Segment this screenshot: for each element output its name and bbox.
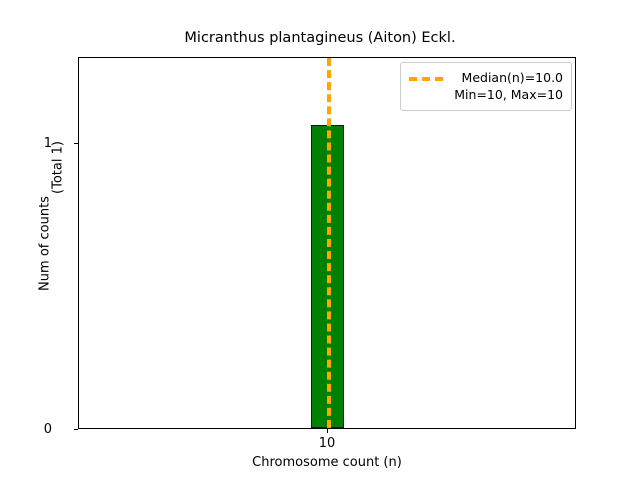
x-tick-label-10: 10 xyxy=(297,436,357,451)
legend-text-block: Median(n)=10.0 Min=10, Max=10 xyxy=(451,69,563,103)
plot-area xyxy=(78,57,576,429)
legend-minmax-label: Min=10, Max=10 xyxy=(451,86,563,103)
x-axis-label: Chromosome count (n) xyxy=(78,455,576,470)
x-tick-mark-10 xyxy=(327,429,328,433)
chart-figure: Micranthus plantagineus (Aiton) Eckl. 1 … xyxy=(0,0,640,480)
legend-median-label: Median(n)=10.0 xyxy=(451,69,563,86)
chart-title: Micranthus plantagineus (Aiton) Eckl. xyxy=(0,30,640,46)
y-tick-label-0: 0 xyxy=(12,423,52,436)
median-line xyxy=(327,58,331,428)
y-axis-label-total: (Total 1) xyxy=(51,68,66,268)
chart-legend: Median(n)=10.0 Min=10, Max=10 xyxy=(400,62,572,111)
legend-dashed-line-swatch xyxy=(409,77,443,81)
y-tick-mark-0 xyxy=(74,429,78,430)
